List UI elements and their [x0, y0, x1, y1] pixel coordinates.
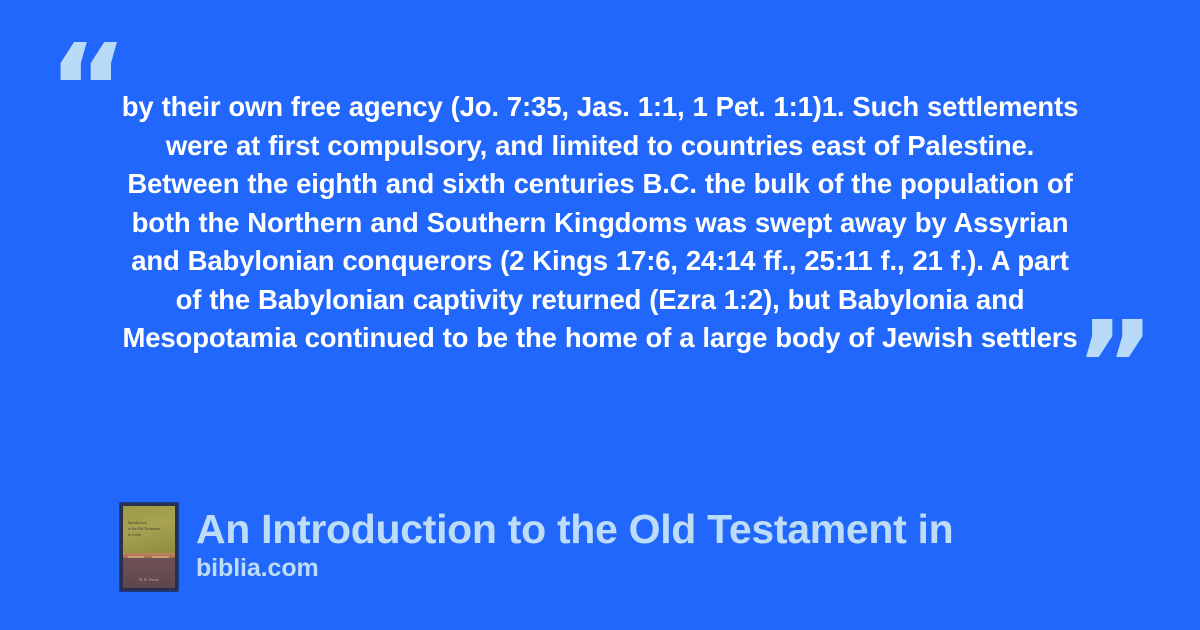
quote-text: by their own free agency (Jo. 7:35, Jas.… — [118, 88, 1082, 358]
cover-author-name: H. B. Swete — [120, 578, 178, 582]
quote-card: “ by their own free agency (Jo. 7:35, Ja… — [0, 0, 1200, 630]
attribution-text: An Introduction to the Old Testament in … — [196, 503, 953, 583]
site-name[interactable]: biblia.com — [196, 553, 953, 583]
cover-title-lines: Introduction to the Old Testament in Gre… — [128, 520, 171, 538]
book-cover-thumbnail[interactable]: Introduction to the Old Testament in Gre… — [120, 503, 178, 591]
cover-bottom-panel — [123, 558, 175, 588]
open-quote-icon: “ — [48, 28, 128, 150]
quote-body: by their own free agency (Jo. 7:35, Jas.… — [118, 88, 1082, 358]
cover-title-line-3: in Greek — [128, 532, 171, 538]
book-title[interactable]: An Introduction to the Old Testament in — [196, 505, 953, 553]
attribution[interactable]: Introduction to the Old Testament in Gre… — [120, 503, 953, 591]
close-quote-icon: ” — [1075, 305, 1155, 427]
